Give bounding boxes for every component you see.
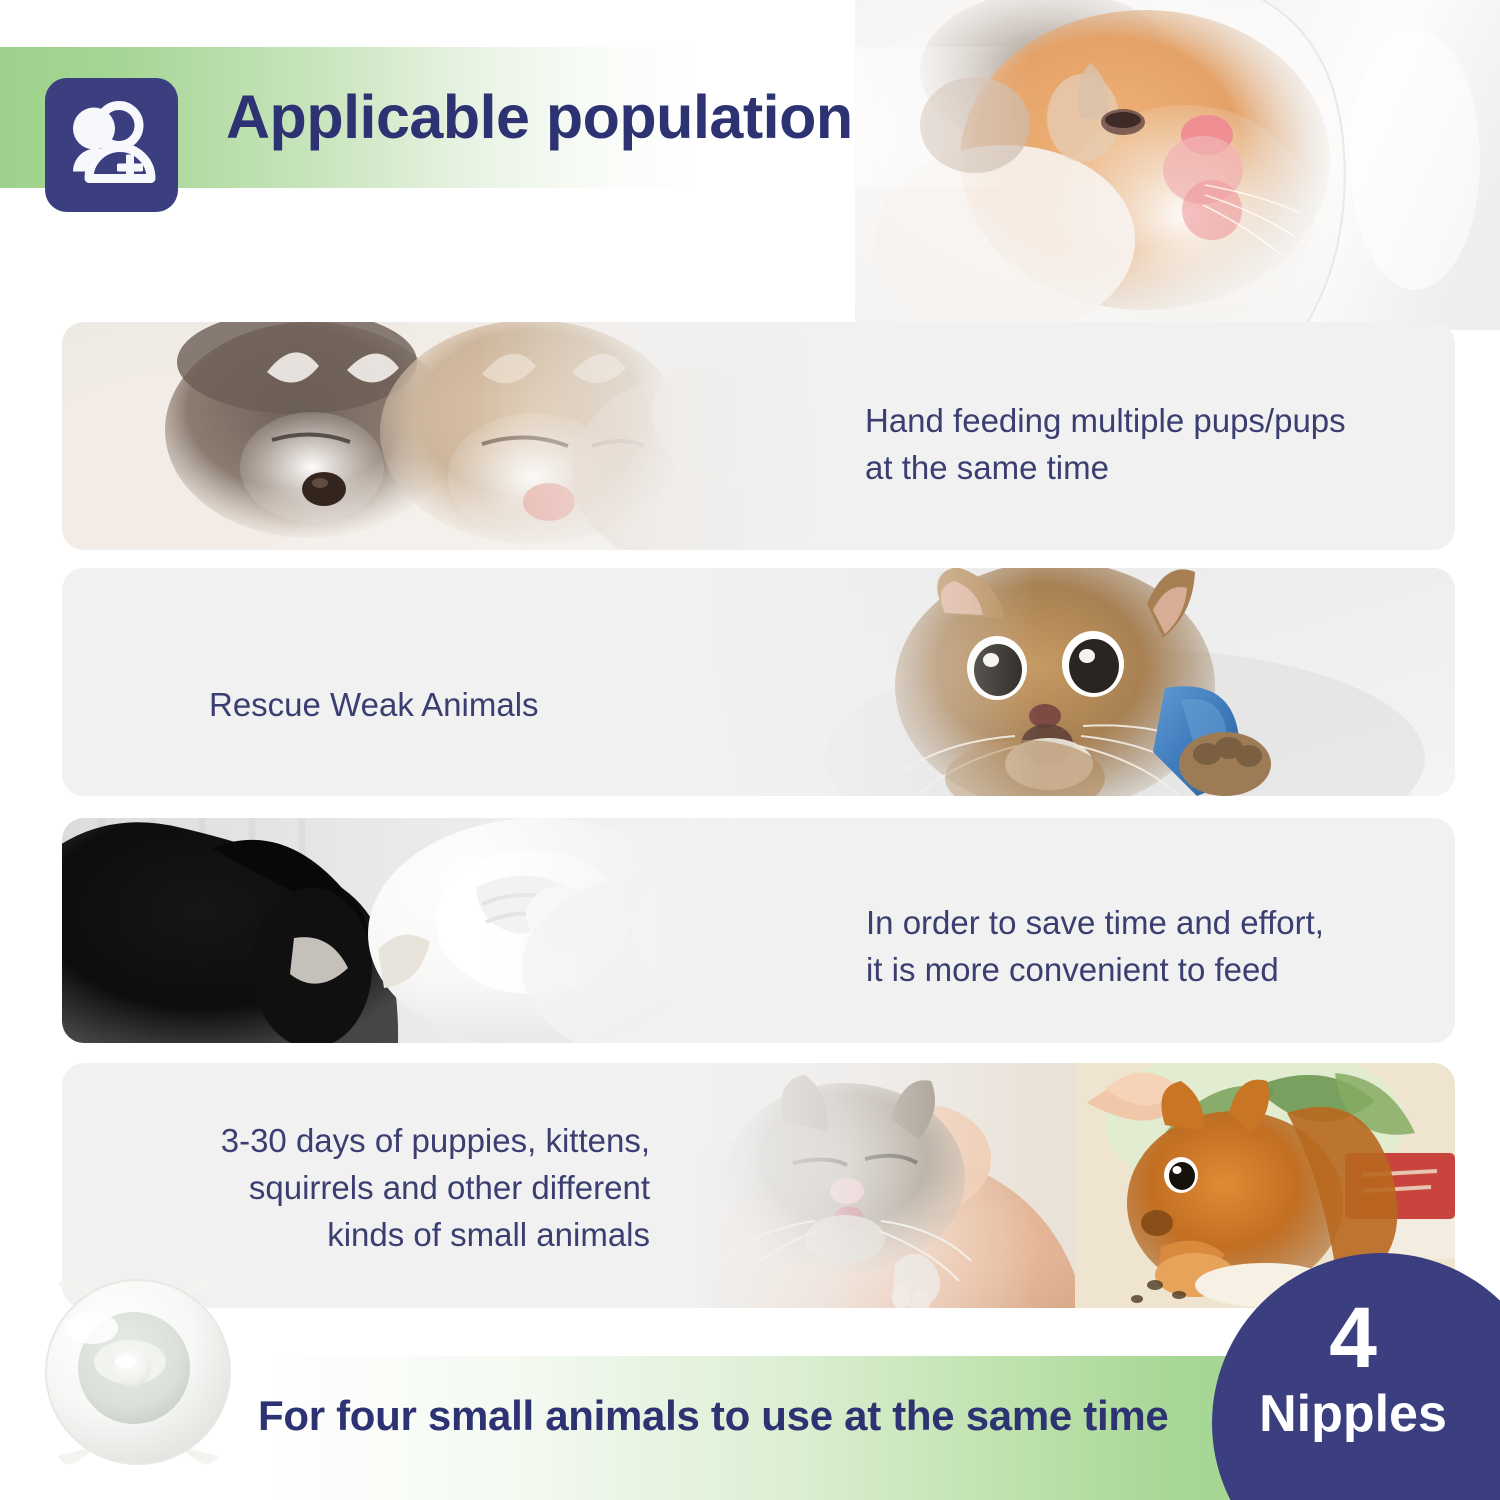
card-2-text: Rescue Weak Animals	[209, 682, 539, 729]
card-3-photo-fade	[62, 818, 822, 1043]
card-3-image-puppy-feeder	[62, 818, 822, 1043]
product-nipple-cap-image	[22, 1256, 254, 1488]
card-2-photo-fade	[695, 568, 1455, 796]
footer-caption: For four small animals to use at the sam…	[258, 1392, 1168, 1440]
badge-number: 4	[1212, 1295, 1494, 1381]
card-4-text: 3-30 days of puppies, kittens, squirrels…	[190, 1118, 650, 1259]
infographic-page: Applicable population	[0, 0, 1500, 1500]
card-1-photo-fade	[62, 322, 822, 550]
card-2-image-kitten	[695, 568, 1455, 796]
badge-label: Nipples	[1212, 1385, 1494, 1445]
card-1-image-puppies	[62, 322, 822, 550]
card-1-text: Hand feeding multiple pups/pups at the s…	[865, 398, 1346, 492]
card-3-text: In order to save time and effort, it is …	[866, 900, 1324, 994]
page-title: Applicable population	[226, 81, 853, 154]
people-add-icon	[45, 78, 178, 212]
